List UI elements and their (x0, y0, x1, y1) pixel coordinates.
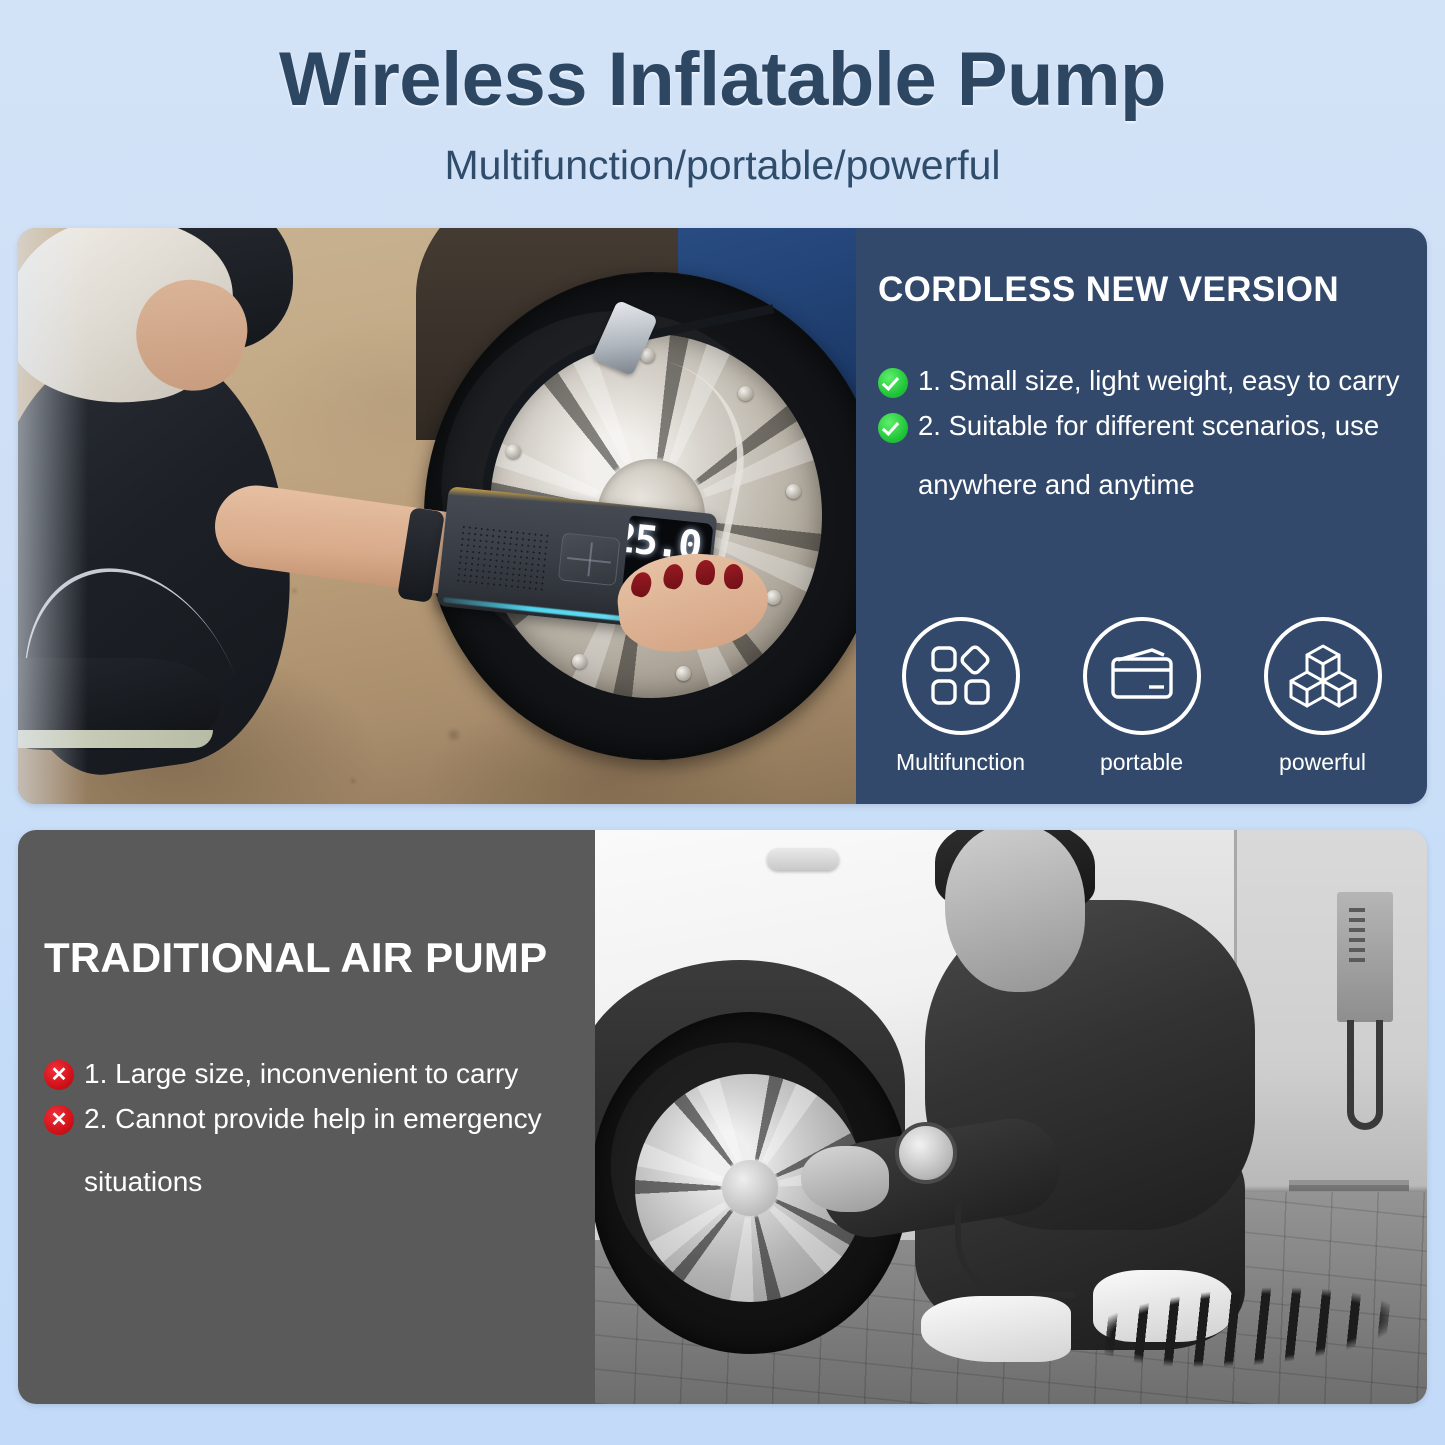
x-icon: ✕ (44, 1060, 74, 1090)
wallet-icon (1083, 617, 1201, 735)
check-icon (878, 368, 908, 398)
x-glyph: ✕ (44, 1105, 74, 1135)
cubes-icon (1264, 617, 1382, 735)
car-door-handle (767, 848, 839, 870)
man-hand (801, 1146, 889, 1212)
photo-traditional-pump-in-use (595, 830, 1427, 1404)
pressure-gauge (895, 1122, 957, 1184)
list-item: 2. Suitable for different scenarios, use (878, 409, 1409, 444)
cordless-card-title: CORDLESS NEW VERSION (878, 270, 1409, 310)
bullet-text: 1. Large size, inconvenient to carry (84, 1056, 518, 1091)
product-infographic: Wireless Inflatable Pump Multifunction/p… (0, 0, 1445, 1445)
man-head (945, 830, 1085, 992)
feature-portable: portable (1056, 617, 1228, 776)
feature-multifunction: Multifunction (875, 617, 1047, 776)
bullet-text: 2. Suitable for different scenarios, use (918, 409, 1379, 444)
traditional-info-card: TRADITIONAL AIR PUMP ✕ 1. Large size, in… (18, 830, 595, 1404)
x-glyph: ✕ (44, 1060, 74, 1090)
list-item: ✕ 1. Large size, inconvenient to carry (44, 1056, 577, 1091)
photo-cordless-pump-in-use: 25.0 PSI kPa (18, 228, 856, 804)
person-shoe (18, 658, 221, 750)
pump-vent-grille (455, 524, 553, 595)
feature-label: Multifunction (875, 749, 1047, 776)
header: Wireless Inflatable Pump Multifunction/p… (0, 0, 1445, 220)
cordless-info-card: CORDLESS NEW VERSION 1. Small size, ligh… (856, 228, 1427, 804)
bullet-continuation: anywhere and anytime (918, 469, 1409, 501)
list-item: 1. Small size, light weight, easy to car… (878, 364, 1409, 399)
wall-mounted-hose (1347, 1020, 1383, 1130)
traditional-card-title: TRADITIONAL AIR PUMP (44, 934, 577, 982)
cordless-bullet-list: 1. Small size, light weight, easy to car… (878, 364, 1409, 501)
list-item: ✕ 2. Cannot provide help in emergency (44, 1101, 577, 1136)
fingernail (724, 564, 743, 589)
bullet-continuation: situations (84, 1166, 577, 1198)
wall-equipment-box (1337, 892, 1393, 1022)
traditional-pump-panel: TRADITIONAL AIR PUMP ✕ 1. Large size, in… (18, 830, 1427, 1404)
cordless-version-panel: 25.0 PSI kPa CORDLESS NEW VERSION (18, 228, 1427, 804)
page-title: Wireless Inflatable Pump (0, 36, 1445, 123)
rim-hub (722, 1160, 778, 1216)
bullet-text: 1. Small size, light weight, easy to car… (918, 364, 1399, 399)
pump-control-button (558, 532, 621, 586)
page-subtitle: Multifunction/portable/powerful (0, 142, 1445, 189)
x-icon: ✕ (44, 1105, 74, 1135)
feature-label: portable (1056, 749, 1228, 776)
feature-powerful: powerful (1237, 617, 1409, 776)
check-icon (878, 413, 908, 443)
feature-icon-row: Multifunction portable (870, 617, 1413, 776)
bullet-text: 2. Cannot provide help in emergency (84, 1101, 542, 1136)
grid-shapes-icon (902, 617, 1020, 735)
traditional-bullet-list: ✕ 1. Large size, inconvenient to carry ✕… (44, 1056, 577, 1198)
feature-label: powerful (1237, 749, 1409, 776)
